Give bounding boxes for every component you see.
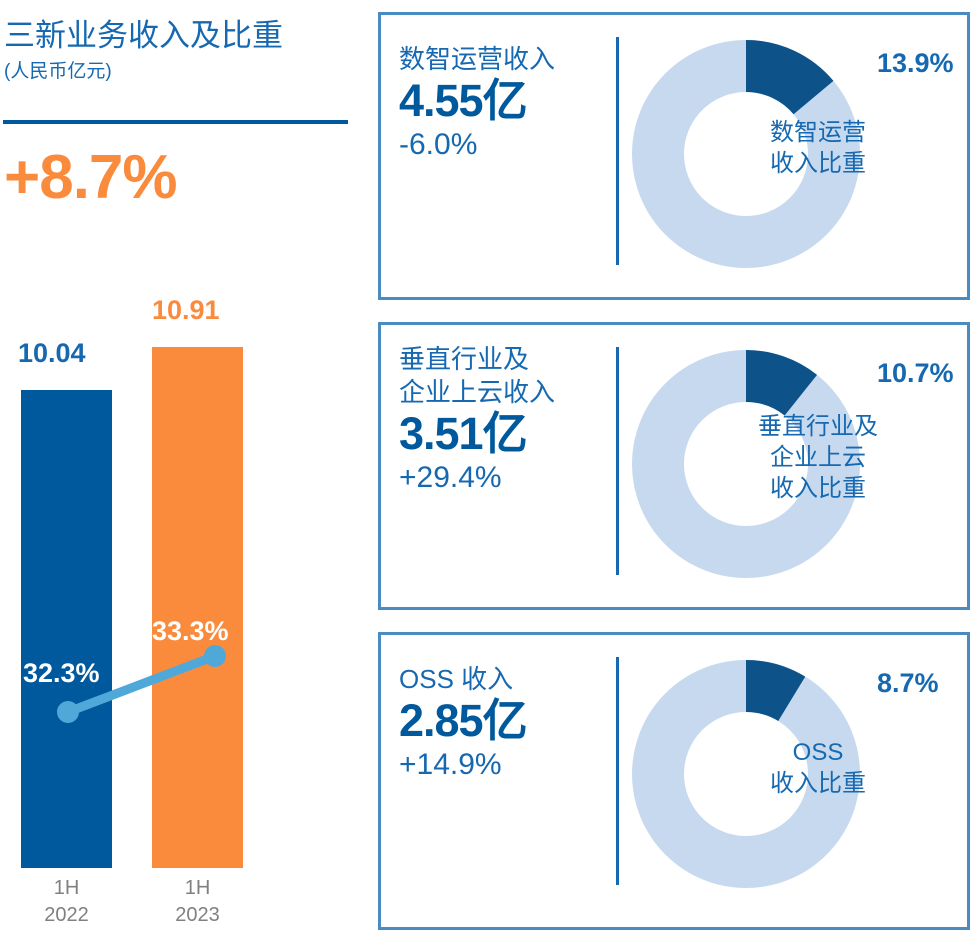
metric-value: 2.85亿 — [399, 695, 614, 747]
donut-center-label: 数智运营 收入比重 — [738, 117, 898, 179]
donut-center-line2: 企业上云 — [738, 442, 898, 473]
page-title: 三新业务收入及比重 — [4, 18, 364, 54]
panel-digital-intelligence-operations: 数智运营收入 4.55亿 -6.0% 数智运营 收入比重 13.9% — [378, 12, 970, 300]
donut-center-line1: OSS — [738, 737, 898, 768]
donut-chart-wrap: 数智运营 收入比重 13.9% — [631, 29, 966, 279]
bar-value-2023: 10.91 — [152, 294, 220, 326]
donut-center-line1: 数智运营 — [738, 117, 898, 148]
metric-label-line1: 垂直行业及 — [399, 343, 614, 376]
metric-block: 垂直行业及 企业上云收入 3.51亿 +29.4% — [399, 343, 614, 497]
bar-value-2022: 10.04 — [18, 337, 86, 369]
left-column: 三新业务收入及比重 (人民币亿元) +8.7% 10.04 10.91 32.3… — [0, 0, 370, 945]
donut-center-line2: 收入比重 — [738, 768, 898, 799]
panel-divider — [616, 37, 619, 265]
metric-value: 3.51亿 — [399, 408, 614, 460]
panel-divider — [616, 657, 619, 885]
x-tick-2023-line2: 2023 — [152, 902, 243, 929]
donut-center-line2: 收入比重 — [738, 148, 898, 179]
bar-2022 — [21, 390, 112, 868]
bar-2023 — [152, 347, 243, 868]
donut-center-line1: 垂直行业及 — [738, 411, 898, 442]
metric-label: 数智运营收入 — [399, 43, 614, 76]
x-tick-2023-line1: 1H — [152, 875, 243, 902]
x-tick-2022: 1H 2022 — [21, 875, 112, 929]
metric-delta: +14.9% — [399, 746, 614, 784]
bar-percent-2022: 32.3% — [23, 657, 100, 689]
x-tick-2023: 1H 2023 — [152, 875, 243, 929]
donut-center-label: 垂直行业及 企业上云 收入比重 — [738, 411, 898, 504]
bar-chart: 10.04 10.91 32.3% 33.3% 1H 2022 1H 2023 — [0, 300, 370, 945]
donut-chart-wrap: OSS 收入比重 8.7% — [631, 649, 966, 899]
metric-delta: -6.0% — [399, 126, 614, 164]
bar-percent-2023: 33.3% — [152, 615, 229, 647]
metric-value: 4.55亿 — [399, 75, 614, 127]
metric-delta: +29.4% — [399, 459, 614, 497]
header-divider — [3, 120, 348, 124]
panel-divider — [616, 347, 619, 575]
page-subtitle: (人民币亿元) — [4, 60, 364, 84]
donut-center-label: OSS 收入比重 — [738, 737, 898, 799]
donut-percent-label: 8.7% — [877, 667, 939, 699]
metric-label: OSS 收入 — [399, 663, 614, 696]
donut-center-line3: 收入比重 — [738, 473, 898, 504]
donut-percent-label: 13.9% — [877, 47, 954, 79]
donut-percent-label: 10.7% — [877, 357, 954, 389]
x-tick-2022-line1: 1H — [21, 875, 112, 902]
donut-chart-wrap: 垂直行业及 企业上云 收入比重 10.7% — [631, 339, 966, 589]
panel-oss-revenue: OSS 收入 2.85亿 +14.9% OSS 收入比重 8.7% — [378, 632, 970, 930]
panel-vertical-industry-enterprise-cloud: 垂直行业及 企业上云收入 3.51亿 +29.4% 垂直行业及 企业上云 收入比… — [378, 322, 970, 610]
metric-block: 数智运营收入 4.55亿 -6.0% — [399, 43, 614, 164]
x-tick-2022-line2: 2022 — [21, 902, 112, 929]
metric-block: OSS 收入 2.85亿 +14.9% — [399, 663, 614, 784]
infographic-root: 三新业务收入及比重 (人民币亿元) +8.7% 10.04 10.91 32.3… — [0, 0, 980, 945]
overall-growth-value: +8.7% — [4, 140, 344, 216]
metric-label-line2: 企业上云收入 — [399, 376, 614, 409]
